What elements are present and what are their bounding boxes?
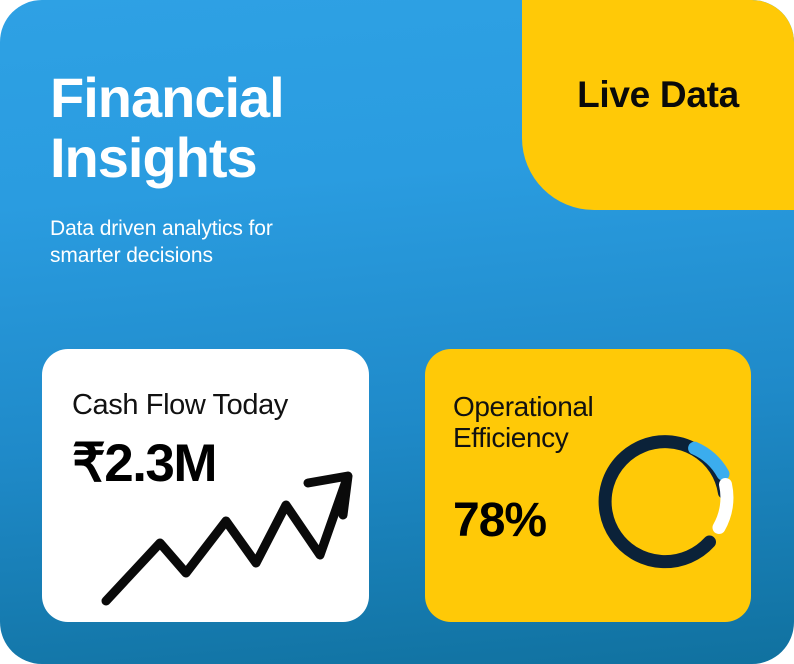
main-panel: Live Data Financial Insights Data driven… [0,0,794,664]
operational-efficiency-value: 78% [453,497,546,545]
card-operational-efficiency[interactable]: Operational Efficiency 78% [425,349,751,622]
live-data-badge-label: Live Data [577,76,739,113]
card-cash-flow[interactable]: Cash Flow Today ₹2.3M [42,349,369,622]
donut-progress-ring-icon [591,425,743,577]
infographic-canvas: Live Data Financial Insights Data driven… [0,0,794,664]
live-data-badge[interactable]: Live Data [522,0,794,210]
page-title: Financial Insights [50,68,480,189]
headline-block: Financial Insights Data driven analytics… [50,68,480,270]
page-subtitle: Data driven analytics for smarter decisi… [50,215,480,270]
upward-trend-arrow-icon [98,463,353,608]
cash-flow-label: Cash Flow Today [72,389,288,421]
